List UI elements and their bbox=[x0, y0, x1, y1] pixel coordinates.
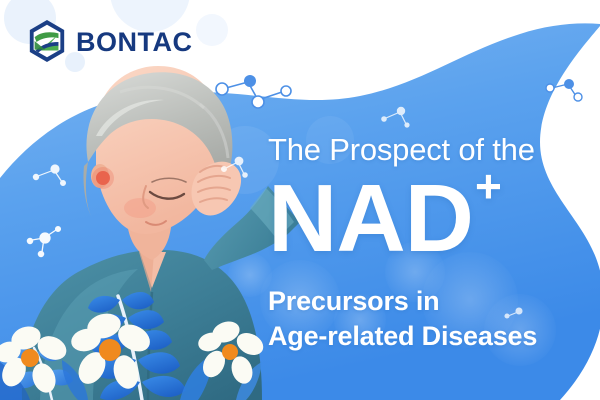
molecule-node-graphic bbox=[546, 79, 582, 101]
headline-line-4: Age-related Diseases bbox=[268, 319, 588, 355]
molecule-node-graphic bbox=[216, 75, 291, 108]
molecule-node-graphic bbox=[382, 107, 409, 127]
headline-nad: NAD+ bbox=[268, 169, 588, 270]
molecule-node-graphic bbox=[27, 227, 60, 257]
headline-line-1: The Prospect of the bbox=[268, 134, 588, 165]
logo-wordmark: BONTAC bbox=[76, 29, 192, 56]
headline-block: The Prospect of the NAD+ Precursors in A… bbox=[268, 134, 588, 355]
molecule-node-graphic bbox=[33, 165, 65, 185]
molecule-node-graphic bbox=[222, 157, 248, 177]
headline-line-3: Precursors in bbox=[268, 284, 588, 320]
nad-superscript-plus: + bbox=[475, 160, 502, 212]
bontac-hexagon-logo-icon bbox=[26, 18, 68, 64]
bontac-logo[interactable]: BONTAC bbox=[26, 18, 192, 64]
nad-text: NAD bbox=[268, 165, 473, 272]
banner-root: BONTAC The Prospect of the NAD+ Precurso… bbox=[0, 0, 600, 400]
